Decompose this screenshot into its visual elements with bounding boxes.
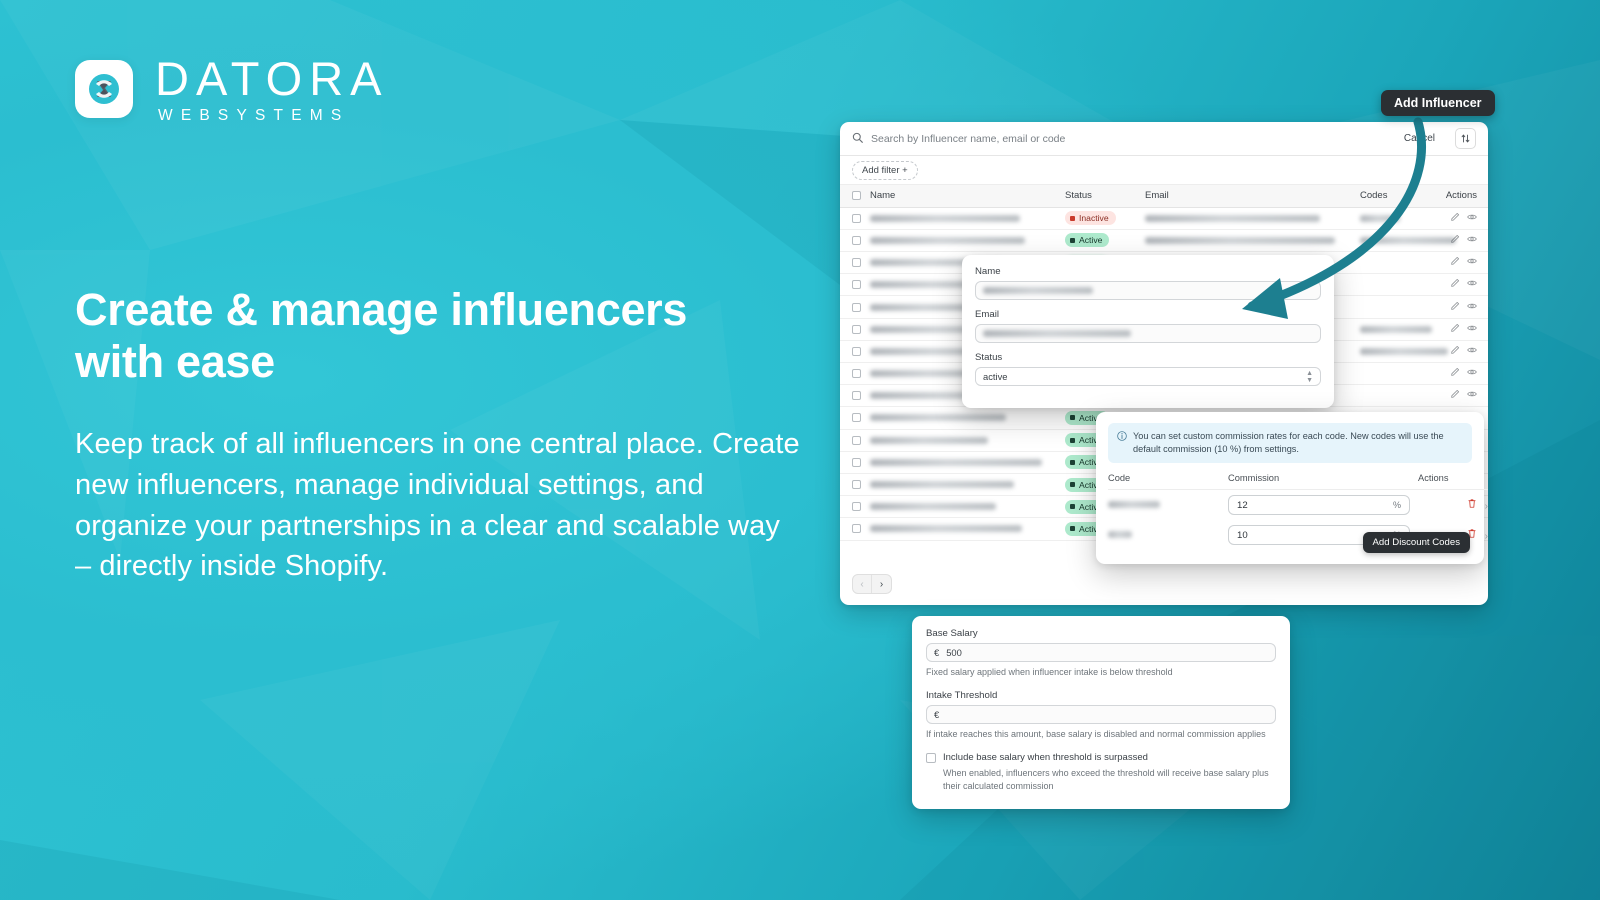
row-checkbox[interactable] [840,229,870,251]
status-select-value: active [983,371,1008,382]
row-checkbox[interactable] [840,407,870,429]
commission-rate-input[interactable]: 12% [1228,490,1418,521]
page-headline: Create & manage influencers with ease [75,284,775,389]
name-value-redacted [983,287,1093,294]
commission-code-redacted [1108,490,1228,521]
row-checkbox[interactable] [840,363,870,385]
page-subcopy: Keep track of all influencers in one cen… [75,424,800,588]
status-field-label: Status [975,352,1321,363]
row-checkbox[interactable] [840,207,870,229]
row-name-redacted [870,473,1065,495]
brand-tagline: WEBSYSTEMS [155,108,389,124]
include-base-salary-checkbox[interactable] [926,753,936,763]
row-checkbox[interactable] [840,274,870,296]
row-checkbox[interactable] [840,451,870,473]
base-salary-value: 500 [946,647,962,658]
chevron-updown-icon: ▲▼ [1306,370,1313,384]
include-base-salary-help: When enabled, influencers who exceed the… [943,767,1273,793]
view-eye-icon[interactable] [1467,367,1477,377]
view-eye-icon[interactable] [1467,323,1477,333]
row-actions[interactable] [1445,385,1488,407]
row-name-redacted [870,451,1065,473]
base-salary-label: Base Salary [926,628,1276,639]
column-header-name[interactable]: Name [870,185,1065,207]
row-actions[interactable] [1445,363,1488,385]
add-influencer-tooltip[interactable]: Add Influencer [1381,90,1495,116]
salary-settings-panel: Base Salary € 500 Fixed salary applied w… [912,616,1290,809]
include-base-salary-label: Include base salary when threshold is su… [943,752,1273,763]
row-codes-redacted [1360,385,1445,407]
row-name-redacted [870,207,1065,229]
view-eye-icon[interactable] [1467,389,1477,399]
commission-col-rate: Commission [1228,473,1418,490]
email-value-redacted [983,330,1131,337]
row-codes-redacted [1360,363,1445,385]
row-checkbox[interactable] [840,252,870,274]
row-checkbox[interactable] [840,473,870,495]
hero-copy-column: DATORA WEBSYSTEMS Create & manage influe… [75,55,855,587]
intake-threshold-input[interactable]: € [926,705,1276,724]
pagination-control[interactable]: ‹ › [852,574,892,594]
row-checkbox[interactable] [840,340,870,362]
row-name-redacted [870,407,1065,429]
intake-threshold-hint: If intake reaches this amount, base sala… [926,728,1276,740]
view-eye-icon[interactable] [1467,256,1477,266]
view-eye-icon[interactable] [1467,278,1477,288]
commission-row-actions[interactable]: › [1418,490,1488,521]
datora-s-mark-icon [75,60,133,118]
view-eye-icon[interactable] [1467,345,1477,355]
commission-rate-value: 10 [1237,530,1248,541]
pointer-arrow-icon [1130,110,1460,350]
search-icon [852,132,863,146]
row-checkbox[interactable] [840,429,870,451]
row-checkbox[interactable] [840,518,870,540]
row-checkbox[interactable] [840,318,870,340]
pagination-next-button[interactable]: › [872,575,891,593]
row-checkbox[interactable] [840,296,870,318]
intake-threshold-label: Intake Threshold [926,690,1276,701]
add-filter-button[interactable]: Add filter + [852,161,918,180]
base-salary-hint: Fixed salary applied when influencer int… [926,666,1276,678]
percent-unit: % [1393,500,1401,510]
row-name-redacted [870,429,1065,451]
commission-row[interactable]: 12%› [1108,490,1488,521]
row-checkbox[interactable] [840,496,870,518]
chevron-right-icon[interactable]: › [1485,501,1488,512]
commission-banner-text: You can set custom commission rates for … [1133,430,1463,456]
commission-header-row: Code Commission Actions [1108,473,1488,490]
logo-glyph [87,72,121,106]
edit-pencil-icon[interactable] [1450,367,1460,377]
status-select[interactable]: active ▲▼ [975,367,1321,386]
brand-logo: DATORA WEBSYSTEMS [75,55,855,124]
info-circle-icon [1117,431,1127,456]
chevron-right-icon[interactable]: › [1485,531,1488,542]
commission-code-redacted [1108,520,1228,550]
intake-threshold-currency: € [934,709,939,720]
base-salary-currency: € [934,647,939,658]
trash-icon[interactable] [1467,501,1477,512]
row-checkbox[interactable] [840,385,870,407]
commission-col-code: Code [1108,473,1228,490]
select-all-checkbox[interactable] [840,185,870,207]
commission-info-banner: You can set custom commission rates for … [1108,423,1472,463]
edit-pencil-icon[interactable] [1450,389,1460,399]
pagination-prev-button[interactable]: ‹ [853,575,872,593]
view-eye-icon[interactable] [1467,212,1477,222]
commission-col-actions: Actions [1418,473,1488,490]
commission-modal: You can set custom commission rates for … [1096,412,1484,564]
row-name-redacted [870,518,1065,540]
brand-name: DATORA [155,55,389,102]
add-discount-codes-button[interactable]: Add Discount Codes [1363,532,1470,553]
row-name-redacted [870,229,1065,251]
view-eye-icon[interactable] [1467,234,1477,244]
view-eye-icon[interactable] [1467,301,1477,311]
base-salary-input[interactable]: € 500 [926,643,1276,662]
row-name-redacted [870,496,1065,518]
commission-rate-value: 12 [1237,500,1248,511]
include-base-salary-row[interactable]: Include base salary when threshold is su… [926,752,1276,793]
